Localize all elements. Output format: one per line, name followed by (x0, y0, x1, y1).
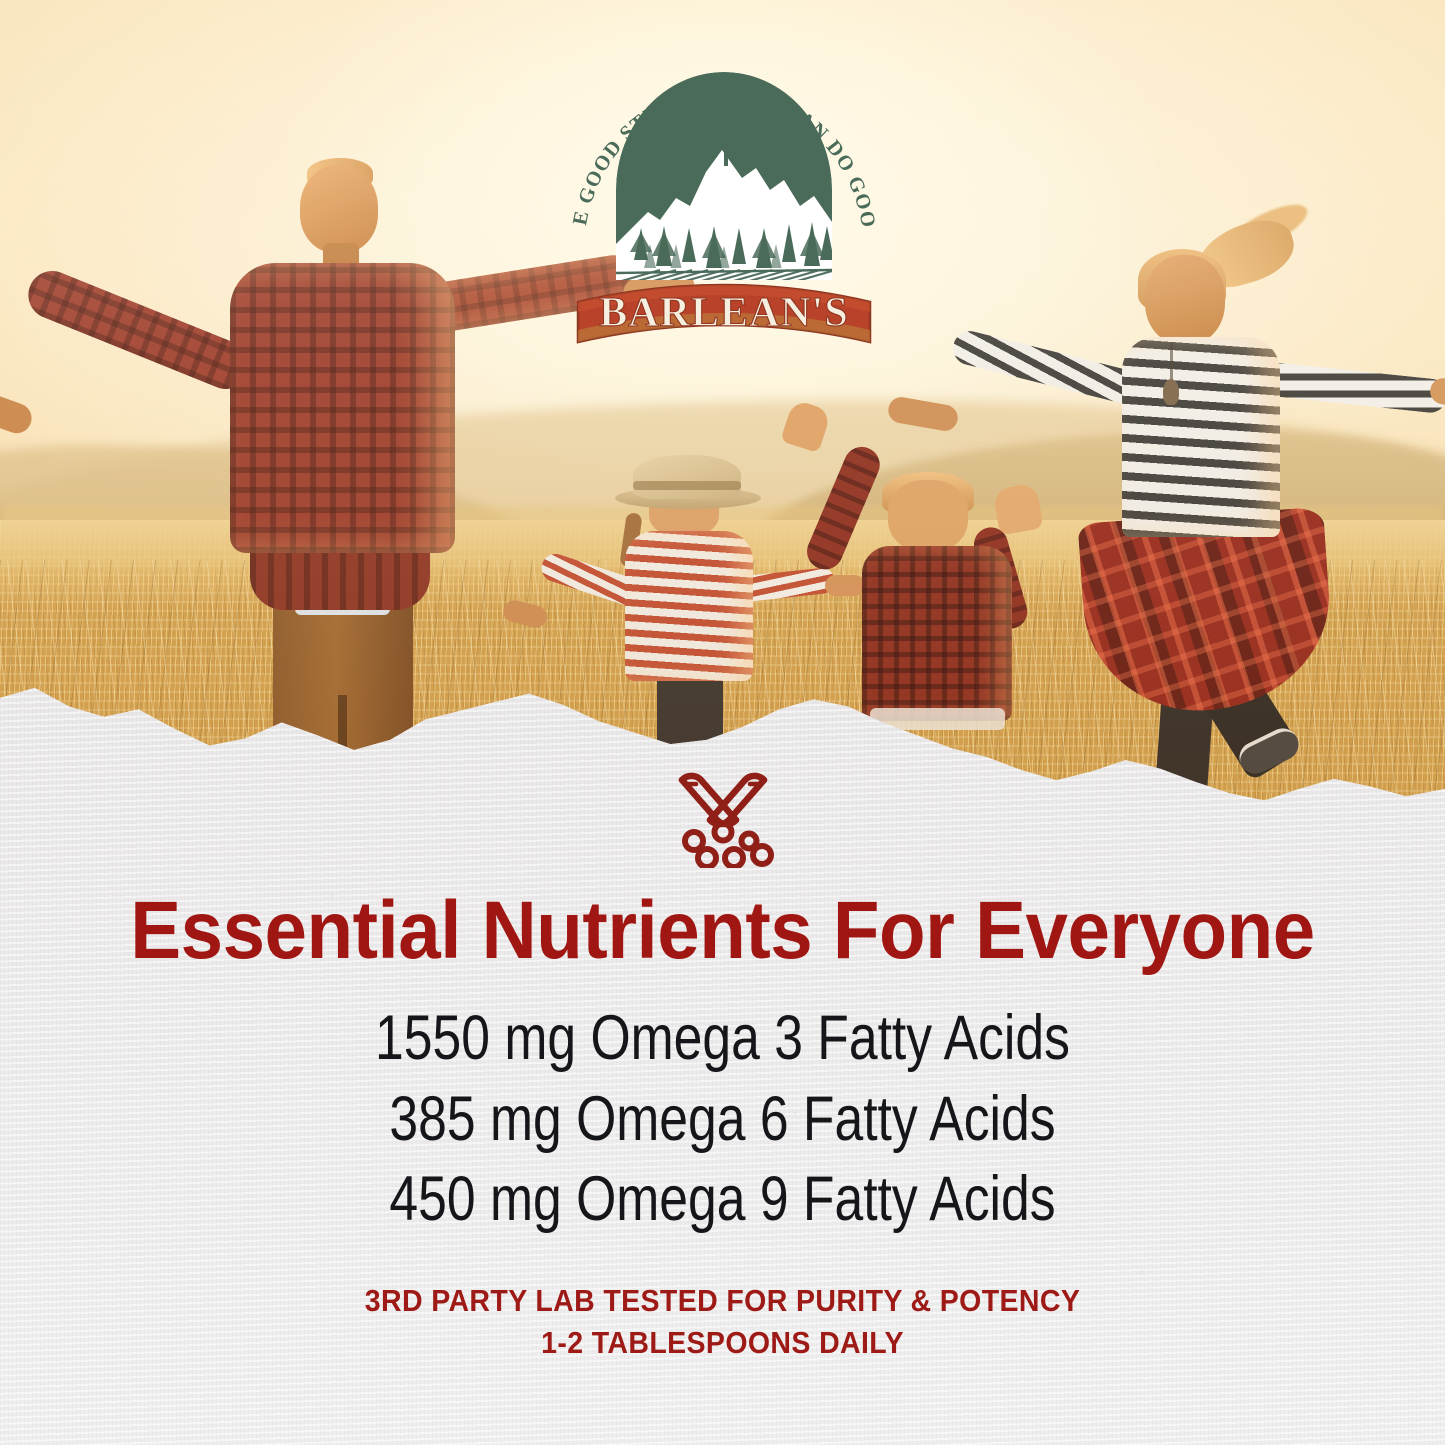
woman-plaid-skirt (1077, 507, 1336, 719)
woman-head (1145, 255, 1225, 345)
woman-right-arm (1260, 361, 1445, 414)
figure-girl-with-hat (575, 455, 805, 755)
girl-hat-band (633, 481, 741, 490)
boy-head (888, 480, 968, 552)
footnote-lab-tested: 3RD PARTY LAB TESTED FOR PURITY & POTENC… (58, 1280, 1387, 1322)
girl-striped-shirt (625, 531, 753, 681)
benefit-item: 385 mg Omega 6 Fatty Acids (130, 1079, 1315, 1160)
logo-banner: BARLEAN'S (578, 285, 870, 342)
product-infographic: WE MAKE GOOD STUFF SO YOU CAN DO GOOD ST… (0, 0, 1445, 1445)
girl-straw-hat (633, 455, 741, 499)
boy-plaid-shirt (862, 546, 1012, 721)
woman-striped-top (1122, 337, 1280, 537)
barleans-logo[interactable]: WE MAKE GOOD STUFF SO YOU CAN DO GOOD ST… (556, 30, 892, 360)
woman-pendant (1163, 379, 1179, 405)
benefits-list: 1550 mg Omega 3 Fatty Acids 385 mg Omega… (0, 998, 1445, 1240)
woman-necklace (1170, 343, 1173, 383)
page-title: Essential Nutrients For Everyone (51, 890, 1395, 972)
omega-oil-drops-icon (664, 760, 782, 868)
content-block: Essential Nutrients For Everyone 1550 mg… (0, 760, 1445, 1364)
benefit-item: 450 mg Omega 9 Fatty Acids (130, 1159, 1315, 1240)
logo-banner-text: BARLEAN'S (599, 290, 848, 336)
benefit-item: 1550 mg Omega 3 Fatty Acids (130, 998, 1315, 1079)
man-head (300, 165, 378, 253)
footnote-dosage: 1-2 TABLESPOONS DAILY (58, 1322, 1387, 1364)
footnotes-block: 3RD PARTY LAB TESTED FOR PURITY & POTENC… (0, 1280, 1445, 1364)
figure-woman (1010, 215, 1445, 795)
man-plaid-shirt (230, 263, 455, 553)
